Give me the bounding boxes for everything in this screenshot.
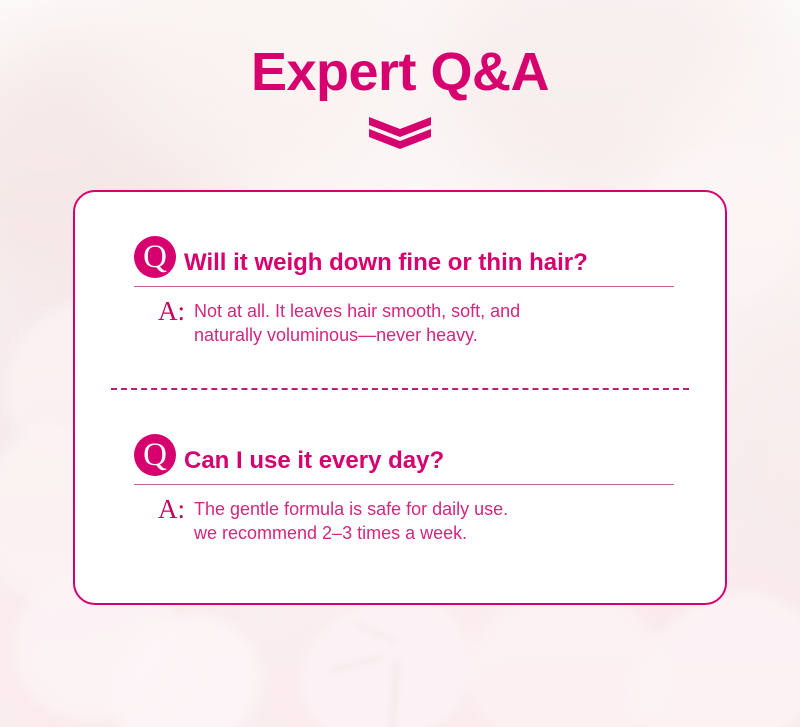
header: Expert Q&A bbox=[0, 44, 800, 149]
page-root: Expert Q&A Q Will it weigh down fine or … bbox=[0, 0, 800, 727]
qa-item: Q Will it weigh down fine or thin hair? … bbox=[134, 228, 674, 348]
question-divider bbox=[134, 484, 674, 485]
qa-item: Q Can I use it every day? A: The gentle … bbox=[134, 426, 674, 546]
question-badge-icon: Q bbox=[134, 434, 176, 476]
question-text: Can I use it every day? bbox=[184, 448, 444, 478]
question-row: Q Can I use it every day? bbox=[134, 426, 674, 478]
answer-marker: A: bbox=[158, 300, 185, 322]
page-title: Expert Q&A bbox=[0, 44, 800, 101]
answer-line: The gentle formula is safe for daily use… bbox=[194, 498, 508, 522]
question-text: Will it weigh down fine or thin hair? bbox=[184, 250, 588, 280]
answer-line: Not at all. It leaves hair smooth, soft,… bbox=[194, 300, 520, 324]
qa-card: Q Will it weigh down fine or thin hair? … bbox=[73, 190, 727, 605]
section-dashed-divider bbox=[111, 388, 689, 390]
question-divider bbox=[134, 286, 674, 287]
question-badge-icon: Q bbox=[134, 236, 176, 278]
answer-line: we recommend 2–3 times a week. bbox=[194, 522, 508, 546]
answer-line: naturally voluminous—never heavy. bbox=[194, 324, 520, 348]
question-row: Q Will it weigh down fine or thin hair? bbox=[134, 228, 674, 280]
double-chevron-down-icon bbox=[0, 115, 800, 149]
answer-marker: A: bbox=[158, 498, 185, 520]
answer-row: A: Not at all. It leaves hair smooth, so… bbox=[134, 300, 674, 348]
answer-row: A: The gentle formula is safe for daily … bbox=[134, 498, 674, 546]
answer-text: The gentle formula is safe for daily use… bbox=[194, 498, 508, 546]
answer-text: Not at all. It leaves hair smooth, soft,… bbox=[194, 300, 520, 348]
